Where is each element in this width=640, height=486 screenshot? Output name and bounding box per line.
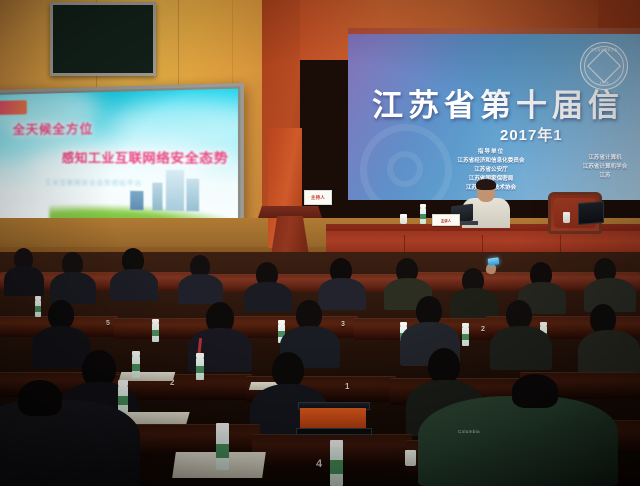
organizer-line: 江苏省经济和信息化委员会 bbox=[457, 158, 524, 164]
bottle-cap bbox=[196, 353, 204, 358]
wall-picture-frame bbox=[50, 2, 156, 76]
laptop-screen-glow bbox=[300, 408, 366, 428]
water-bottle bbox=[462, 327, 469, 346]
audience-body bbox=[490, 326, 552, 370]
bottle-cap bbox=[118, 380, 128, 386]
bottle-cap bbox=[400, 322, 407, 326]
screen-building-graphic bbox=[130, 191, 143, 210]
seat-number: 5 bbox=[106, 320, 110, 327]
water-bottle bbox=[330, 446, 343, 486]
audience-head bbox=[272, 352, 304, 388]
table-nameplate: 主讲人 bbox=[432, 214, 460, 226]
audience-head bbox=[512, 374, 558, 408]
water-bottle bbox=[196, 358, 204, 380]
bottle-cap bbox=[330, 440, 343, 447]
event-banner: 江苏省计算机学会 1979 江苏省第十届信 2017年1 指导单位 江苏省经济和… bbox=[348, 28, 640, 200]
audience-body bbox=[178, 274, 223, 304]
audience-head bbox=[18, 380, 62, 416]
audience-body bbox=[244, 282, 292, 312]
organizer-line: 江苏 bbox=[599, 173, 610, 179]
bottle-cap bbox=[216, 423, 229, 431]
banner-organizers-right: 江苏省计算机 江苏省计算机学会 江苏 bbox=[562, 154, 640, 181]
screen-corner-logo bbox=[0, 100, 27, 115]
audience-body-columbia-jacket bbox=[418, 396, 618, 486]
seat-number: 3 bbox=[341, 321, 345, 328]
podium-sign-text: 主持人 bbox=[311, 195, 325, 201]
audience-body bbox=[32, 326, 90, 368]
table-nameplate-text: 主讲人 bbox=[441, 218, 451, 223]
water-bottle bbox=[132, 356, 140, 378]
bottle-cap bbox=[540, 322, 547, 326]
seat-number: 4 bbox=[316, 458, 322, 470]
audience-head bbox=[428, 348, 460, 384]
screen-caption: 工业互联网安全态势感知平台 bbox=[45, 177, 142, 187]
screen-building-graphic bbox=[166, 170, 184, 211]
paper-cup bbox=[400, 214, 407, 224]
speaker-hair bbox=[476, 179, 496, 190]
water-bottle bbox=[420, 208, 426, 224]
audience-body bbox=[0, 400, 140, 486]
conference-hall-photo: 全天候全方位 感知工业互联网络安全态势 工业互联网安全态势感知平台 江苏省计算机… bbox=[0, 0, 640, 486]
organizers-heading: 指导单位 bbox=[426, 148, 556, 157]
bottle-cap bbox=[35, 296, 41, 300]
banner-title: 江苏省第十届信 bbox=[372, 80, 624, 125]
seat-number: 2 bbox=[481, 326, 485, 333]
audience-body bbox=[110, 269, 158, 301]
audience-body bbox=[318, 278, 366, 310]
water-bottle bbox=[216, 430, 229, 470]
paper-cup bbox=[563, 212, 570, 223]
bottle-cap bbox=[278, 320, 285, 324]
water-bottle bbox=[152, 323, 159, 342]
bottle-cap bbox=[132, 351, 140, 356]
bottle-cap bbox=[420, 204, 426, 208]
water-bottle bbox=[35, 300, 41, 317]
screen-building-graphic bbox=[152, 183, 162, 211]
organizer-line: 江苏省计算机 bbox=[588, 155, 622, 161]
seal-top-text: 江苏省计算机学会 bbox=[581, 47, 627, 52]
projection-screen: 全天候全方位 感知工业互联网络安全态势 工业互联网安全态势感知平台 bbox=[0, 83, 244, 231]
audience-body bbox=[4, 266, 44, 296]
screen-building-graphic bbox=[186, 179, 199, 212]
table-laptop bbox=[578, 201, 604, 225]
paper-cup bbox=[405, 450, 416, 466]
screen-subheadline: 感知工业互联网络安全态势 bbox=[62, 148, 229, 167]
desk-row bbox=[196, 274, 406, 292]
screen-headline: 全天候全方位 bbox=[13, 119, 94, 137]
bottle-cap bbox=[152, 319, 159, 323]
projection-screen-surface: 全天候全方位 感知工业互联网络安全态势 工业互联网安全态势感知平台 bbox=[0, 89, 238, 226]
bottle-cap bbox=[462, 323, 469, 327]
seat-number: 1 bbox=[345, 382, 349, 391]
columbia-brand-logo: Columbia bbox=[458, 429, 480, 434]
organizer-line: 江苏省公安厅 bbox=[474, 167, 508, 173]
banner-date: 2017年1 bbox=[500, 124, 563, 145]
organizer-line: 江苏省计算机学会 bbox=[583, 164, 628, 170]
audience-body bbox=[578, 330, 640, 374]
audience-body bbox=[50, 272, 96, 304]
podium-sign: 主持人 bbox=[304, 190, 332, 205]
laptop-base bbox=[296, 428, 372, 435]
banner-top-trim bbox=[348, 28, 640, 34]
